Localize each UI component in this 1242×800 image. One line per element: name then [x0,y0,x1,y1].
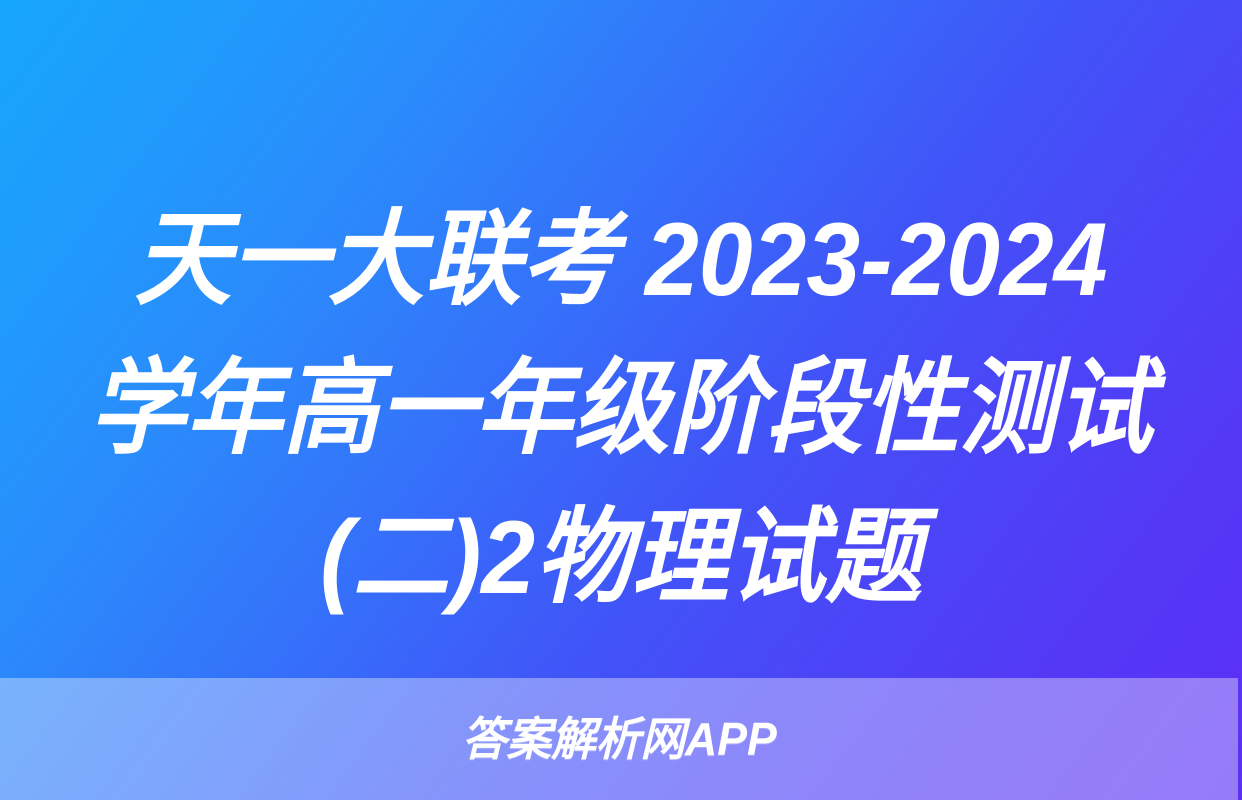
page-title: 天一大联考 2023-2024 学年高一年级阶段性测试 (二)2物理试题 [0,186,1242,633]
footer-brand-band: 答案解析网APP [0,678,1238,800]
title-line-3: (二)2物理试题 [70,484,1173,633]
exam-paper-cover-poster: 天一大联考 2023-2024 学年高一年级阶段性测试 (二)2物理试题 答案解… [0,0,1242,800]
title-line-1: 天一大联考 2023-2024 [70,186,1173,335]
title-line-2: 学年高一年级阶段性测试 [70,335,1173,484]
footer-brand-label: 答案解析网APP [462,716,777,762]
